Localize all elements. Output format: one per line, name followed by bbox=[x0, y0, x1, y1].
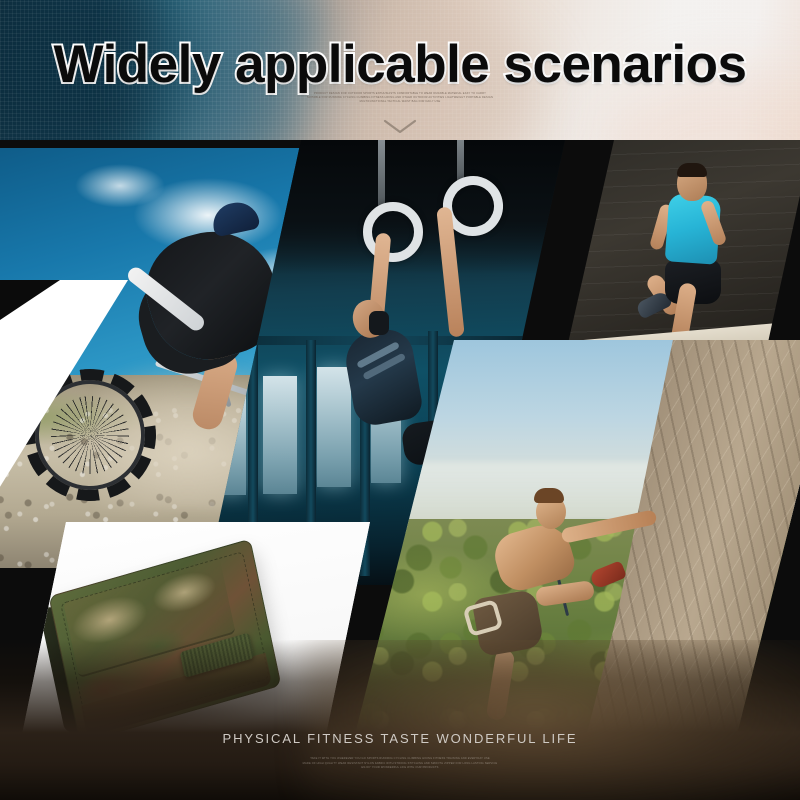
header-microcopy-line-3: MULTIFUNCTIONAL TACTICAL WAIST BAG FOR D… bbox=[160, 100, 640, 104]
panel-running bbox=[562, 140, 800, 370]
gym-window bbox=[317, 367, 351, 487]
footer-band-wash bbox=[304, 640, 800, 800]
poster-root: Widely applicable scenarios PRODUCT DESI… bbox=[0, 0, 800, 800]
footer-microcopy-line-3: ENJOY YOUR WONDERFUL LIFE WITH OUR PRODU… bbox=[120, 766, 680, 770]
runner-hair bbox=[677, 163, 707, 177]
footer-microcopy: TAKE IT WITH YOU WHEREVER YOU GO SPORTS … bbox=[120, 757, 680, 770]
scenario-collage: PHYSICAL FITNESS TASTE WONDERFUL LIFE TA… bbox=[0, 140, 800, 800]
headphones-icon bbox=[369, 311, 389, 335]
chevron-down-icon bbox=[383, 119, 417, 135]
footer-band: PHYSICAL FITNESS TASTE WONDERFUL LIFE TA… bbox=[0, 640, 800, 800]
header-microcopy-line-2: SUITABLE FOR RUNNING CYCLING CLIMBING FI… bbox=[120, 96, 680, 100]
header-band: Widely applicable scenarios PRODUCT DESI… bbox=[0, 0, 800, 146]
climber-hair bbox=[534, 488, 564, 503]
footer-caption: PHYSICAL FITNESS TASTE WONDERFUL LIFE bbox=[0, 731, 800, 746]
page-title: Widely applicable scenarios bbox=[0, 34, 800, 95]
gym-window bbox=[263, 376, 297, 494]
ring-strap bbox=[378, 140, 385, 211]
